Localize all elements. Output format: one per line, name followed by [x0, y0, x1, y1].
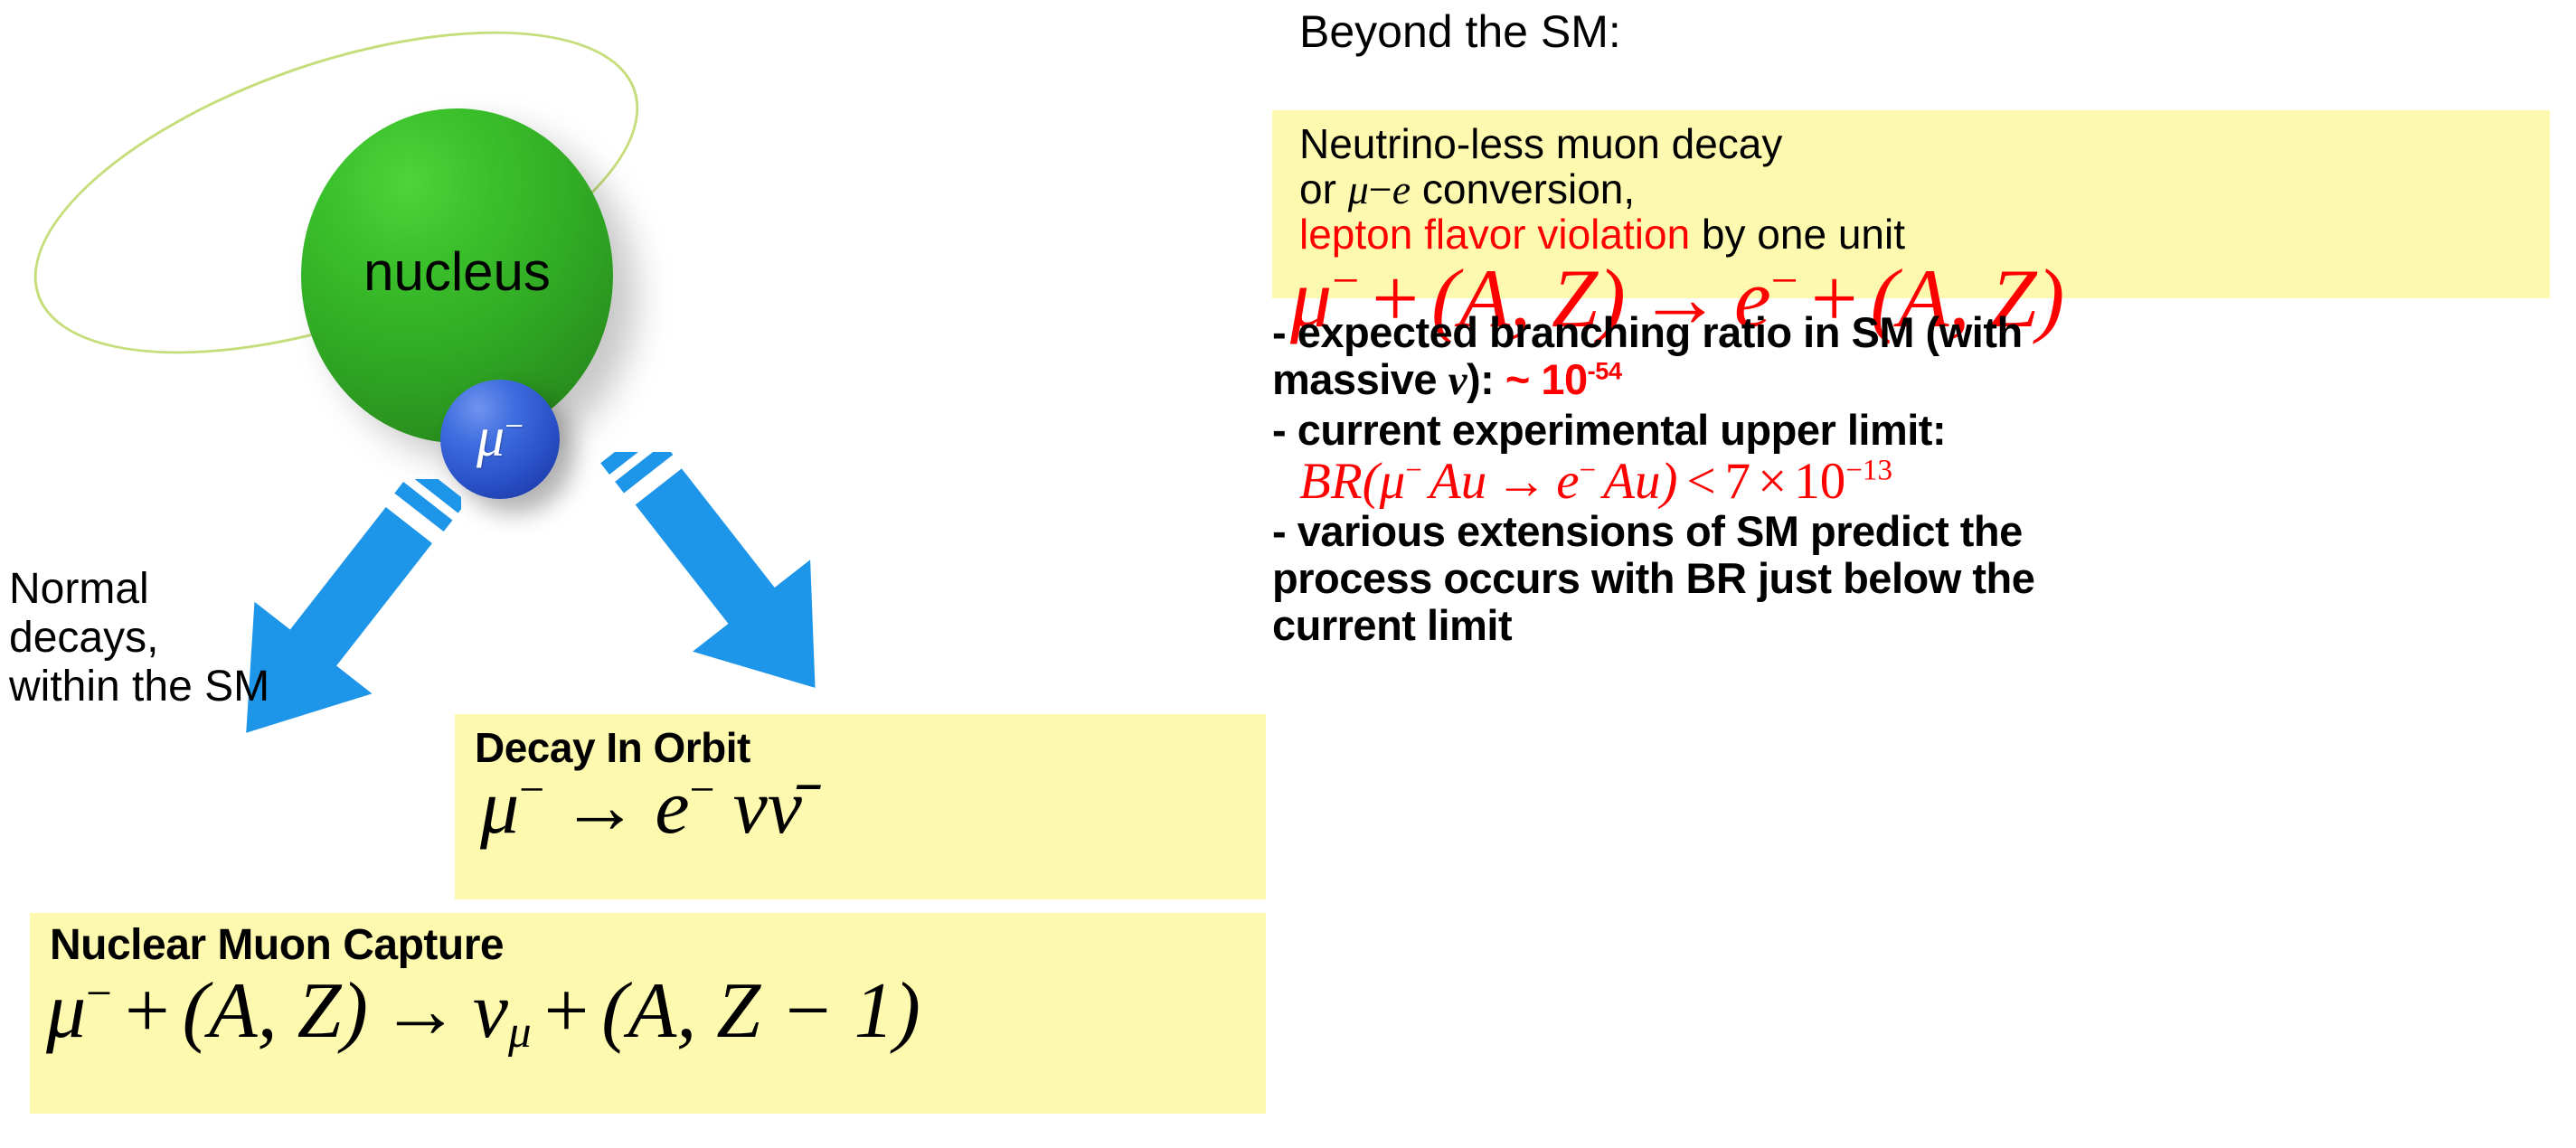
limit-au-2: Au	[1603, 453, 1660, 510]
bsm-line-2-post: conversion,	[1411, 165, 1635, 212]
decay-in-orbit-box: Decay In Orbit μ−→e−νν̄	[455, 714, 1266, 899]
cap-paren-az: (A, Z)	[183, 967, 368, 1055]
cap-plus-2: +	[544, 967, 590, 1055]
limit-e: e	[1556, 453, 1579, 510]
bsm-line-2-pre: or	[1299, 165, 1348, 212]
bullet-current-limit: - current experimental upper limit:	[1272, 405, 1946, 455]
bullet-expected-br-line-2: massive ν): ~ 10-54	[1272, 354, 1622, 405]
cap-paren-az1: (A, Z − 1)	[601, 967, 920, 1055]
limit-open: (	[1363, 453, 1380, 510]
nuclear-muon-capture-title: Nuclear Muon Capture	[50, 920, 504, 970]
dio-arrow: →	[561, 763, 638, 850]
massive-pre: massive	[1272, 355, 1448, 403]
normal-decays-caption: Normal decays, within the SM	[9, 565, 269, 710]
bsm-minus-2: −	[1771, 253, 1798, 307]
dio-e: e	[655, 763, 689, 850]
limit-arrow: →	[1496, 453, 1547, 510]
limit-seven: 7	[1725, 453, 1751, 510]
limit-br: BR	[1299, 453, 1363, 510]
expected-br-exponent: -54	[1588, 357, 1622, 385]
cap-plus-1: +	[125, 967, 170, 1055]
dio-nu: ν	[733, 763, 768, 850]
limit-times: ×	[1758, 453, 1787, 510]
nuclear-muon-capture-equation: μ−+(A, Z)→νμ+(A, Z − 1)	[46, 965, 920, 1059]
bsm-minus-1: −	[1332, 253, 1359, 307]
limit-close: )	[1661, 453, 1678, 510]
arrow-decay-right-icon	[579, 452, 877, 755]
massive-mid: ):	[1467, 355, 1505, 403]
beyond-sm-heading: Beyond the SM:	[1299, 5, 1621, 58]
muon-glyph: μ	[477, 407, 505, 468]
dio-mu: μ	[480, 763, 519, 850]
cap-arrow: →	[381, 967, 460, 1055]
limit-lt: <	[1686, 453, 1715, 510]
limit-exponent: −13	[1845, 455, 1892, 487]
nucleus-label: nucleus	[363, 245, 551, 299]
bsm-line-2-dash: −	[1369, 166, 1392, 212]
muonic-atom-diagram: nucleus μ−	[0, 0, 750, 560]
limit-ten: 10	[1794, 453, 1845, 510]
cap-mu: μ	[46, 967, 86, 1055]
normal-decays-line-3: within the SM	[9, 663, 269, 711]
cap-nu-sub: μ	[508, 1007, 532, 1058]
normal-decays-line-1: Normal	[9, 565, 269, 614]
bullet-extensions-line-1: - various extensions of SM predict the	[1272, 506, 2023, 556]
limit-mu: μ	[1380, 453, 1406, 510]
bsm-line-2: or μ−e conversion,	[1299, 165, 1635, 213]
beyond-sm-box: Neutrino-less muon decay or μ−e conversi…	[1272, 110, 2550, 298]
cap-minus: −	[86, 968, 112, 1019]
nucleus-sphere-icon: nucleus	[301, 108, 613, 443]
muon-label: μ−	[477, 409, 524, 466]
bullet-expected-br-line-1: - expected branching ratio in SM (with	[1272, 307, 2023, 357]
dio-nubar: ν̄	[768, 763, 802, 850]
limit-minus-2: −	[1580, 455, 1597, 487]
bullet-extensions-line-3: current limit	[1272, 600, 1512, 650]
normal-decays-line-2: decays,	[9, 614, 269, 663]
dio-minus-2: −	[689, 765, 714, 814]
decay-in-orbit-equation: μ−→e−νν̄	[480, 761, 802, 852]
neutrino-glyph: ν	[1448, 357, 1467, 404]
cap-nu: ν	[473, 967, 508, 1055]
bullet-extensions-line-2: process occurs with BR just below the	[1272, 553, 2034, 603]
dio-minus-1: −	[519, 765, 544, 814]
muon-charge-glyph: −	[505, 409, 524, 446]
bsm-line-1: Neutrino-less muon decay	[1299, 119, 1782, 168]
bsm-line-2-e: e	[1392, 166, 1411, 212]
nuclear-muon-capture-box: Nuclear Muon Capture μ−+(A, Z)→νμ+(A, Z …	[30, 913, 1266, 1114]
bsm-line-2-mu: μ	[1348, 166, 1369, 212]
limit-au-1: Au	[1430, 453, 1486, 510]
limit-minus-1: −	[1405, 455, 1422, 487]
expected-br-value: ~ 10	[1505, 355, 1588, 403]
current-upper-limit-equation: BR(μ−Au→e−Au)<7×10−13	[1299, 452, 1892, 511]
